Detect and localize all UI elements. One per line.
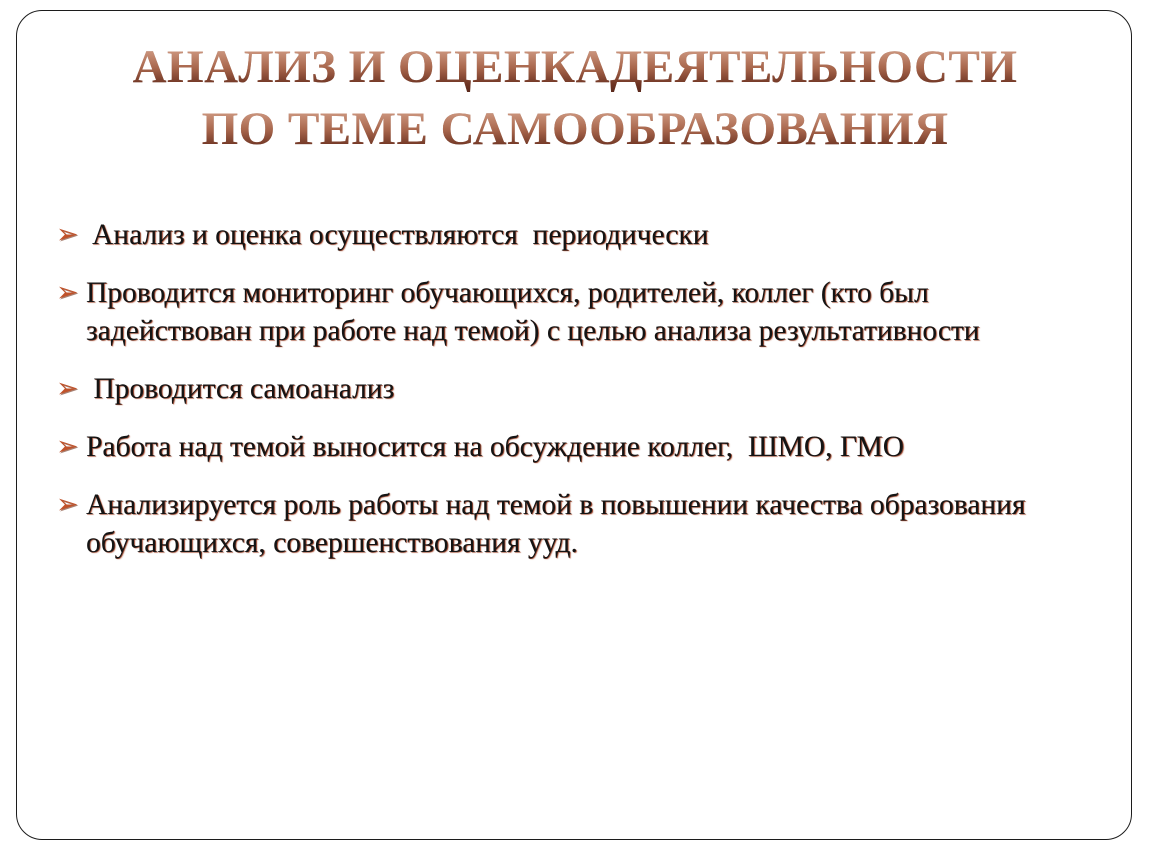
bullet-list: ➢ Анализ и оценка осуществляются периоди…	[56, 216, 1096, 562]
list-item-text: Работа над темой выносится на обсуждение…	[86, 428, 1096, 466]
title-line-2: ПО ТЕМЕ САМООБРАЗОВАНИЯ	[60, 102, 1090, 156]
list-item-text: Проводится мониторинг обучающихся, родит…	[86, 274, 1096, 350]
chevron-bullet-icon: ➢	[56, 370, 86, 408]
list-item: ➢ Анализ и оценка осуществляются периоди…	[56, 216, 1096, 254]
list-item: ➢ Проводится мониторинг обучающихся, род…	[56, 274, 1096, 350]
list-item: ➢ Анализируется роль работы над темой в …	[56, 486, 1096, 562]
list-item-text: Проводится самоанализ	[86, 370, 1096, 408]
chevron-bullet-icon: ➢	[56, 216, 92, 254]
list-item-text: Анализ и оценка осуществляются периодиче…	[92, 216, 1096, 254]
title-line-1-wrap: АНАЛИЗ И ОЦЕНКАДЕЯТЕЛЬНОСТИ АНАЛИЗ И ОЦЕ…	[60, 40, 1090, 102]
list-item: ➢ Работа над темой выносится на обсужден…	[56, 428, 1096, 466]
list-item-text: Анализируется роль работы над темой в по…	[86, 486, 1096, 562]
list-item: ➢ Проводится самоанализ ➢ Проводится сам…	[56, 370, 1096, 408]
chevron-bullet-icon: ➢	[56, 428, 86, 466]
title-line-1: АНАЛИЗ И ОЦЕНКАДЕЯТЕЛЬНОСТИ	[60, 40, 1090, 94]
list-item-reflection: ➢ Анализируется роль работы над темой в …	[56, 562, 1096, 592]
chevron-bullet-icon: ➢	[56, 274, 86, 312]
chevron-bullet-icon: ➢	[56, 486, 86, 524]
title-line-2-wrap: ПО ТЕМЕ САМООБРАЗОВАНИЯ ПО ТЕМЕ САМООБРА…	[60, 102, 1090, 164]
presentation-slide: АНАЛИЗ И ОЦЕНКАДЕЯТЕЛЬНОСТИ АНАЛИЗ И ОЦЕ…	[0, 0, 1150, 864]
slide-title: АНАЛИЗ И ОЦЕНКАДЕЯТЕЛЬНОСТИ АНАЛИЗ И ОЦЕ…	[60, 40, 1090, 164]
